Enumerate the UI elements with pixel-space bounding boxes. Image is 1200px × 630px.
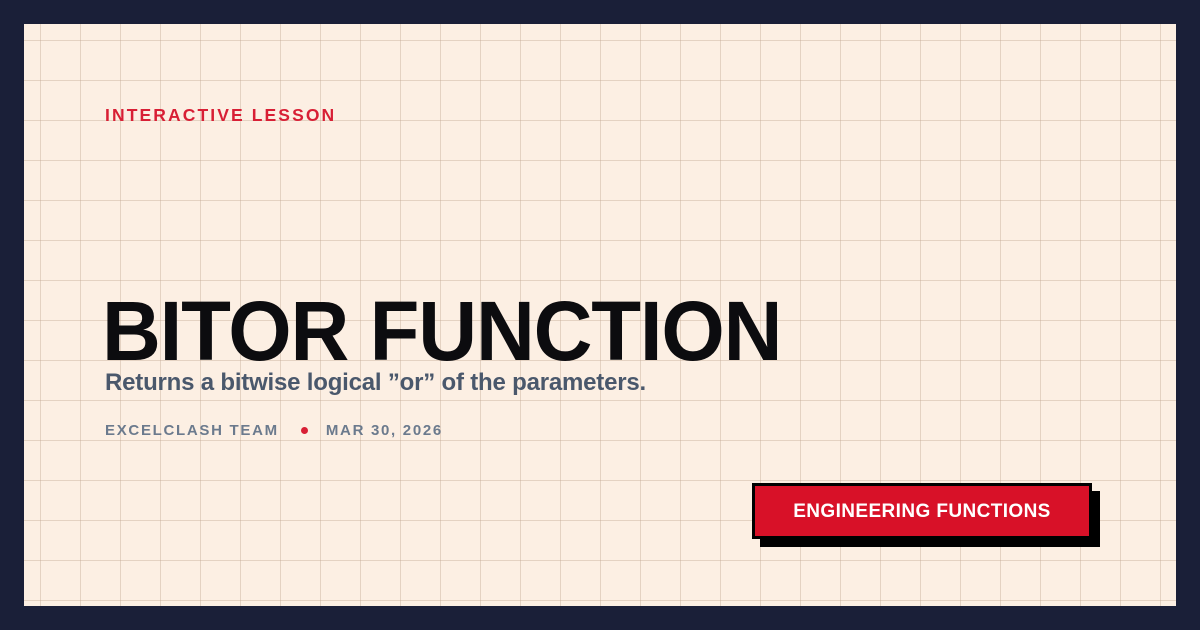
page-title: BITOR FUNCTION bbox=[102, 289, 781, 373]
eyebrow-label: INTERACTIVE LESSON bbox=[105, 107, 336, 125]
poster-canvas: INTERACTIVE LESSON BITOR FUNCTION Return… bbox=[0, 0, 1200, 630]
category-tag-label: ENGINEERING FUNCTIONS bbox=[793, 502, 1051, 521]
byline-date: MAR 30, 2026 bbox=[326, 423, 443, 438]
hero-subtitle: Returns a bitwise logical ”or” of the pa… bbox=[105, 368, 646, 398]
category-tag-button[interactable]: ENGINEERING FUNCTIONS bbox=[752, 483, 1092, 539]
byline: EXCELCLASH TEAM MAR 30, 2026 bbox=[105, 423, 443, 438]
hero-content: INTERACTIVE LESSON BITOR FUNCTION Return… bbox=[24, 24, 1176, 606]
byline-separator-dot-icon bbox=[301, 427, 308, 434]
byline-author: EXCELCLASH TEAM bbox=[105, 423, 279, 438]
hero-card: INTERACTIVE LESSON BITOR FUNCTION Return… bbox=[24, 24, 1176, 606]
category-tag[interactable]: ENGINEERING FUNCTIONS bbox=[752, 483, 1100, 547]
